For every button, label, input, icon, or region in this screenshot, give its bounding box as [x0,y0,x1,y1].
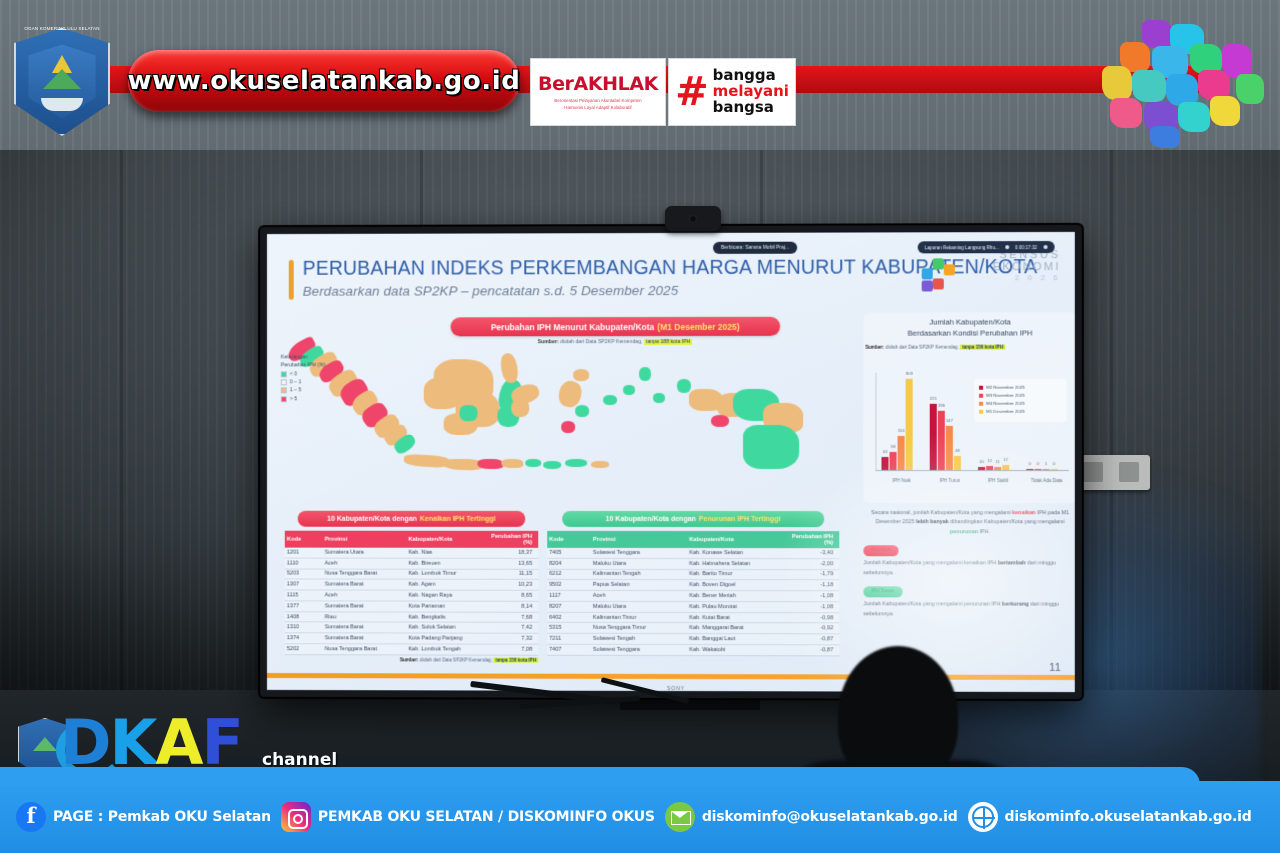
chart-bar: 48 [954,456,961,470]
legend-swatch [281,371,287,377]
chart-legend-swatch [979,410,983,414]
chart-bar-value: 114 [898,428,905,433]
audience-silhouette-head [838,646,958,786]
chart-legend-swatch [979,402,983,406]
map-legend-title-1: Keterangan [281,353,350,361]
tl-src-mark: tanpa 150 kota IPH [494,657,539,662]
chevron-down-icon-2[interactable] [1043,245,1047,249]
cell-perubahan: -0,87 [781,634,840,645]
sensus-line2: EKONOMI [993,261,1061,274]
slide-canvas: Berbicara: Sarana Mobil Praj... Laporan … [267,232,1075,692]
berakhlak-sub2: Harmonis Loyal Adaptif Kolaboratif [554,105,641,112]
desc-turun-b: berkurang [1002,602,1029,608]
webcam [665,206,721,231]
cell-kabupaten: Kab. Bener Meriah [687,591,781,602]
desc-naik-b: bertambah [998,561,1026,567]
cell-provinsi: Sumatera Barat [323,633,407,644]
cell-kode: 7407 [547,644,591,655]
cell-kode: 1117 [547,590,591,601]
chart-source-bold: Sumber: [865,345,884,350]
table-row: 1110AcehKab. Bireuen13,65 [285,558,538,569]
tv-brand: SONY [267,685,1089,693]
table-row: 8204Maluku UtaraKab. Halmahera Selatan-2… [547,558,839,569]
sensus-ekonomi-logo-icon [920,254,966,296]
chart-bar-value: 0 [1029,461,1031,466]
globe-icon[interactable] [968,802,998,832]
slide-footer-accent [267,673,1075,680]
chart-legend-item: M3 November 2025 [979,392,1062,400]
table-left-badge-b: Kenaikan IPH Tertinggi [420,515,496,522]
slide-page-number: 11 [1049,662,1061,674]
table-right-badge-b: Penurunan IPH Tertinggi [699,516,781,523]
tl-src-bold: Sumber: [400,657,419,662]
chart-bar-value: 147 [946,418,953,423]
cell-perubahan: -1,08 [781,602,840,613]
chart-bar-group: 4459114303 [881,379,912,470]
table-row: 1408RiauKab. Bengkalis7,68 [285,612,538,623]
desc-naik-a: Jumlah Kabupaten/Kota yang mengalami ken… [863,561,997,567]
chart-bar: 59 [890,452,897,470]
table-row: 9502Papua SelatanKab. Boven Digoel-1,18 [547,580,839,591]
cell-kabupaten: Kab. Barito Timur [687,569,781,580]
cell-kode: 1374 [285,633,323,644]
chart-bar: 17 [1002,465,1009,470]
narr-a: Secara nasional, jumlah Kabupaten/Kota y… [871,510,1012,516]
chart-bar-value: 196 [938,403,945,408]
chip-iph-turun: IPH Turun [863,587,902,598]
cell-provinsi: Aceh [323,590,407,601]
cell-provinsi: Nusa Tenggara Barat [323,644,407,655]
cell-perubahan: -0,98 [781,612,840,623]
recording-toolbar[interactable]: Laporan Rekaming Langsung Rhu... 0:00:17… [918,241,1055,253]
desc-iph-turun: Jumlah Kabupaten/Kota yang mengalami pen… [863,601,1074,620]
chart-source-mark: tanpa 150 kota IPH [960,345,1005,350]
chart-bar: 196 [938,411,945,470]
title-accent-bar [289,260,294,300]
table-row: 1374Sumatera BaratKota Padang Panjang7,3… [285,633,538,644]
map-legend-title-2: Perubahan IPH (%) [281,362,350,370]
wall-seam [120,150,123,710]
table-right-badge-a: 10 Kabupaten/Kota dengan [606,515,696,522]
province-map-graphic [1090,18,1270,150]
table-row: 1117AcehKab. Bener Meriah-1,08 [547,590,839,601]
chart-title-line1: Jumlah Kabupaten/Kota [863,316,1074,327]
footer-label-website: diskominfo.okuselatankab.go.id [1005,809,1252,825]
chart-bar-value: 12 [987,458,992,463]
cell-kode: 6212 [547,569,591,580]
chevron-down-icon[interactable] [1005,245,1009,249]
chart-bar: 12 [986,466,993,470]
narr-g: IPH. [978,529,990,535]
map-source-note: Sumber: diolah dari Data SP2KP Kemendag,… [466,339,766,345]
chart-bar-group: 22119614748 [930,404,961,471]
cell-kabupaten: Kab. Banggai Laut [687,634,781,645]
map-legend-item: 0 – 1 [281,378,350,386]
table-row: 6402Kalimantan TimurKab. Kutai Barat-0,9… [547,612,839,623]
legend-label: 0 – 1 [290,378,301,386]
recording-label: Laporan Rekaming Langsung Rhu... [925,245,999,250]
cell-kode: 1201 [285,548,323,558]
watermark-text: DKAF [60,712,242,774]
th-perubahan-r: Perubahan IPH (%) [781,531,840,548]
cell-provinsi: Papua Selatan [591,580,687,591]
cell-perubahan: 8,14 [487,601,538,612]
cell-perubahan: -1,18 [781,580,840,591]
table-row: 1310Sumatera BaratKab. Solok Selatan7,42 [285,622,538,633]
chart-bar-value: 221 [930,395,937,400]
map-source-text: diolah dari Data SP2KP Kemendag, [560,339,642,345]
desc-turun-a: Jumlah Kabupaten/Kota yang mengalami pen… [863,602,1002,608]
chart-legend-item: M4 November 2025 [979,400,1062,408]
cell-provinsi: Sumatera Utara [323,548,407,558]
table-left-source: Sumber: diolah dari Data SP2KP Kemendag,… [285,657,538,663]
chart-bar: 0 [1026,469,1033,470]
cell-kode: 9502 [547,580,591,591]
chart-legend: M2 November 2025M3 November 2025M4 Novem… [974,379,1067,422]
cell-perubahan: 7,42 [487,623,538,634]
chart-legend-label: M2 November 2025 [986,384,1025,392]
table-row: 1201Sumatera UtaraKab. Nias18,37 [285,548,538,559]
cell-kode: 8204 [547,558,591,569]
table-row: 5203Nusa Tenggara BaratKab. Lombok Timur… [285,569,538,580]
cell-perubahan: -1,08 [781,591,840,602]
th-kode: Kode [285,531,323,548]
chart-bar-value: 0 [1037,461,1039,466]
chart-bar-value: 303 [906,371,913,376]
table-left: Kode Provinsi Kabupaten/Kota Perubahan I… [285,531,538,656]
th-perubahan: Perubahan IPH (%) [487,531,538,548]
footer-label-email: diskominfo@okuselatankab.go.id [702,809,958,825]
map-legend: Keterangan Perubahan IPH (%) < 0 0 – 1 1… [281,353,350,403]
map-source-mark: tanpa 188 kota IPH [644,339,692,345]
cell-perubahan: 7,08 [487,644,538,655]
desc-iph-naik: Jumlah Kabupaten/Kota yang mengalami ken… [863,560,1074,579]
footer-item-instagram[interactable]: PEMKAB OKU SELATAN / DISKOMINFO OKUS [281,802,655,832]
cell-provinsi: Aceh [323,558,407,569]
chart-bar: 44 [881,457,888,470]
cell-provinsi: Nusa Tenggara Timur [591,623,687,634]
cell-kabupaten: Kab. Lombok Timur [406,569,487,580]
legend-swatch [281,388,287,394]
cell-perubahan: 7,68 [487,612,538,623]
cell-kode: 7405 [547,548,591,558]
cell-perubahan: 18,37 [487,548,538,558]
map-legend-item: > 5 [281,395,350,403]
cell-kabupaten: Kab. Wakatobi [687,645,781,656]
chart-x-label: IPH Turun [930,478,970,483]
chart-source-text: diolah dari Data SP2KP Kemendag, [885,345,958,350]
cell-kode: 7211 [547,634,591,645]
table-row: 6212Kalimantan TengahKab. Barito Timur-1… [547,569,839,580]
narrative-paragraph: Secara nasional, jumlah Kabupaten/Kota y… [863,509,1074,538]
chart-legend-label: M1 Desember 2025 [986,408,1025,416]
th-kode-r: Kode [547,531,591,548]
chart-legend-swatch [979,394,983,398]
table-right-header-row: Kode Provinsi Kabupaten/Kota Perubahan I… [547,531,839,548]
legend-swatch [281,396,287,402]
table-left-header-row: Kode Provinsi Kabupaten/Kota Perubahan I… [285,531,538,548]
chart-legend-label: M4 November 2025 [986,400,1025,408]
cell-kode: 1408 [285,612,323,623]
chart-legend-item: M2 November 2025 [979,384,1062,392]
cell-provinsi: Maluku Utara [591,558,687,569]
chart-bar: 147 [946,426,953,470]
cell-kabupaten: Kab. Boven Digoel [687,580,781,591]
map-badge-highlight: (M1 Desember 2025) [657,321,739,331]
crest-caption: OGAN KOMERING ULU SELATAN [14,22,110,38]
cell-perubahan: 10,23 [487,580,538,591]
chart-bar-value: 48 [955,448,960,453]
cell-provinsi: Nusa Tenggara Barat [323,569,407,580]
table-penurunan-iph-tertinggi: 10 Kabupaten/Kota dengan Penurunan IPH T… [547,511,839,656]
presentation-display: Berbicara: Sarana Mobil Praj... Laporan … [260,225,1082,699]
narrative-panel: Secara nasional, jumlah Kabupaten/Kota y… [863,509,1074,620]
cell-provinsi: Sulawesi Tenggara [591,548,687,558]
chart-bar-value: 44 [883,449,888,454]
th-provinsi: Provinsi [323,531,407,548]
cell-kabupaten: Kab. Solok Selatan [406,622,487,633]
cell-kode: 1307 [285,579,323,590]
cell-perubahan: -1,79 [781,569,840,580]
th-kabupaten: Kabupaten/Kota [406,531,487,548]
legend-label: > 5 [290,395,297,403]
tl-src-text: diolah dari Data SP2KP Kemendag, [420,657,493,662]
table-right: Kode Provinsi Kabupaten/Kota Perubahan I… [547,531,839,656]
cell-kode: 5203 [285,569,323,580]
berakhlak-logo: BerAKHLAK Berorientasi Pelayanan Akuntab… [530,58,666,126]
cell-kode: 1377 [285,601,323,612]
cell-kabupaten: Kab. Agam [406,579,487,590]
chart-bar-value: 1 [1045,461,1047,466]
wall-outlet [1075,455,1150,490]
slide-subtitle: Berdasarkan data SP2KP – pencatatan s.d.… [303,283,679,299]
chart-bar-value: 0 [1053,461,1055,466]
cell-perubahan: -3,40 [781,548,840,558]
cell-perubahan: 13,65 [487,558,538,569]
chart-x-label: Tidak Ada Data [1026,478,1066,483]
cell-kabupaten: Kab. Bengkalis [406,612,487,623]
sensus-line3: 2 0 2 6 [993,274,1061,283]
cell-kode: 1115 [285,590,323,601]
chart-bar: 114 [898,436,905,470]
chart-bar: 0 [1034,469,1041,470]
cell-provinsi: Sumatera Barat [323,579,407,590]
th-kabupaten-r: Kabupaten/Kota [687,531,781,548]
table-row: 5315Nusa Tenggara TimurKab. Manggarai Ba… [547,623,839,634]
legend-label: 1 – 5 [290,387,301,395]
cell-provinsi: Kalimantan Tengah [591,569,687,580]
footer-label-facebook: PAGE : Pemkab OKU Selatan [53,809,271,825]
cell-perubahan: 8,65 [487,590,538,601]
chart-legend-item: M1 Desember 2025 [979,408,1062,416]
table-row: 1377Sumatera BaratKota Pariaman8,14 [285,601,538,612]
cell-kode: 5202 [285,644,323,655]
chart-source-note: Sumber: diolah dari Data SP2KP Kemendag,… [865,344,1074,349]
chart-x-label: IPH Stabil [978,478,1018,483]
chart-title: Jumlah Kabupaten/Kota Berdasarkan Kondis… [863,316,1074,338]
cell-provinsi: Sumatera Barat [323,601,407,612]
chart-bar-value: 17 [1003,457,1008,462]
cell-kode: 5315 [547,623,591,634]
cell-kabupaten: Kab. Kutai Barat [687,612,781,623]
table-row: 1115AcehKab. Nagan Raya8,65 [285,590,538,601]
table-row: 7211Sulawesi TengahKab. Banggai Laut-0,8… [547,634,839,645]
map-source-bold: Sumber: [538,339,559,345]
table-kenaikan-iph-tertinggi: 10 Kabupaten/Kota dengan Kenaikan IPH Te… [285,511,538,663]
cell-kabupaten: Kota Padang Panjang [406,633,487,644]
cell-perubahan: -0,87 [781,645,840,656]
top-banner: OGAN KOMERING ULU SELATAN www.okuselatan… [0,0,1280,150]
cell-provinsi: Sulawesi Tengah [591,634,687,645]
chart-legend-label: M3 November 2025 [986,392,1025,400]
table-row: 1307Sumatera BaratKab. Agam10,23 [285,579,538,590]
legend-swatch [281,379,287,385]
chart-y-axis [875,373,876,471]
berakhlak-sub1: Berorientasi Pelayanan Akuntabel Kompete… [554,98,641,105]
cell-kode: 8207 [547,601,591,612]
cell-kabupaten: Kota Pariaman [406,601,487,612]
chart-bar-value: 11 [995,459,999,464]
chart-x-axis [875,470,1068,471]
cell-kabupaten: Kab. Manggarai Barat [687,623,781,634]
narr-b: kenaikan [1012,510,1035,516]
chart-bar: 303 [906,379,913,470]
cell-perubahan: -2,00 [781,558,840,569]
cell-kode: 1310 [285,622,323,633]
hash-icon: # [675,72,709,112]
cell-provinsi: Sulawesi Tenggara [591,644,687,655]
cell-provinsi: Riau [323,612,407,623]
cell-kabupaten: Kab. Nagan Raya [406,590,487,601]
table-row: 8207Maluku UtaraKab. Pulau Morotai-1,08 [547,601,839,612]
cell-kode: 6402 [547,612,591,623]
oku-selatan-crest-icon [14,28,110,136]
cell-perubahan: 7,32 [487,633,538,644]
email-icon[interactable] [665,802,695,832]
table-row: 7405Sulawesi TenggaraKab. Konawe Selatan… [547,548,839,559]
narr-e: dibandingkan Kabupaten/Kota yang mengala… [949,520,1065,526]
chart-x-label: IPH Naik [881,478,921,483]
cell-provinsi: Aceh [591,591,687,602]
cell-kabupaten: Kab. Pulau Morotai [687,601,781,612]
footer-item-website[interactable]: diskominfo.okuselatankab.go.id [968,802,1252,832]
cell-provinsi: Maluku Utara [591,601,687,612]
chart-bar-value: 59 [891,444,896,449]
legend-label: < 0 [290,370,297,378]
cell-provinsi: Sumatera Barat [323,622,407,633]
chart-bar-group: 0010 [1026,469,1057,470]
bangga-melayani-bangsa-logo: # bangga melayani bangsa [668,58,796,126]
tv-stand [620,698,760,710]
table-right-badge: 10 Kabupaten/Kota dengan Penurunan IPH T… [562,511,825,527]
indonesia-choropleth-map [275,333,833,503]
sensus-ekonomi-wordmark: SENSUS EKONOMI 2 0 2 6 [993,249,1061,283]
speaker-status-pill: Berbicara: Sarana Mobil Praj... [713,242,797,254]
cell-perubahan: -0,92 [781,623,840,634]
cell-kabupaten: Kab. Halmahera Selatan [687,558,781,569]
table-row: 5202Nusa Tenggara BaratKab. Lombok Tenga… [285,644,538,655]
chart-bar: 0 [1051,469,1058,470]
facebook-icon[interactable]: f [16,802,46,832]
website-url-text: www.okuselatankab.go.id [128,66,521,96]
chart-bar: 221 [930,404,937,471]
footer-item-email[interactable]: diskominfo@okuselatankab.go.id [665,802,958,832]
table-left-badge-a: 10 Kabupaten/Kota dengan [327,515,417,522]
narr-d: lebih banyak [916,520,949,526]
recording-time: 0:00:17:32 [1015,245,1037,250]
footer-label-instagram: PEMKAB OKU SELATAN / DISKOMINFO OKUS [318,809,655,825]
table-left-badge: 10 Kabupaten/Kota dengan Kenaikan IPH Te… [297,511,525,527]
chart-bar-value: 10 [979,459,984,464]
bangga-l3: bangsa [713,100,789,116]
chart-legend-swatch [979,386,983,390]
chart-bar: 1 [1043,469,1050,470]
cell-kode: 1110 [285,558,323,569]
cell-kabupaten: Kab. Nias [406,548,487,558]
chip-iph-naik: IPH Naik [863,546,899,557]
map-section-badge: Perubahan IPH Menurut Kabupaten/Kota (M1… [451,317,781,337]
cell-kabupaten: Kab. Lombok Tengah [406,644,487,655]
map-legend-item: 1 – 5 [281,387,350,395]
cell-perubahan: 11,15 [487,569,538,580]
chart-title-line2: Berdasarkan Kondisi Perubahan IPH [863,327,1074,338]
berakhlak-title: BerAKHLAK [538,73,658,95]
cell-kabupaten: Kab. Bireuen [406,558,487,569]
social-footer-bar: f PAGE : Pemkab OKU Selatan PEMKAB OKU S… [0,781,1280,853]
chart-bar: 11 [994,467,1001,470]
chart-bar-group: 10121117 [978,465,1009,470]
cell-provinsi: Kalimantan Timur [591,612,687,623]
map-badge-main: Perubahan IPH Menurut Kabupaten/Kota [491,322,654,332]
instagram-icon[interactable] [281,802,311,832]
th-provinsi-r: Provinsi [591,531,687,548]
narr-f: penurunan [950,529,978,535]
table-row: 7407Sulawesi TenggaraKab. Wakatobi-0,87 [547,644,839,655]
cell-kabupaten: Kab. Konawe Selatan [687,548,781,558]
chart-bar: 10 [978,467,985,470]
website-url-pill[interactable]: www.okuselatankab.go.id [128,50,520,112]
footer-item-facebook[interactable]: f PAGE : Pemkab OKU Selatan [16,802,271,832]
map-legend-item: < 0 [281,370,350,378]
